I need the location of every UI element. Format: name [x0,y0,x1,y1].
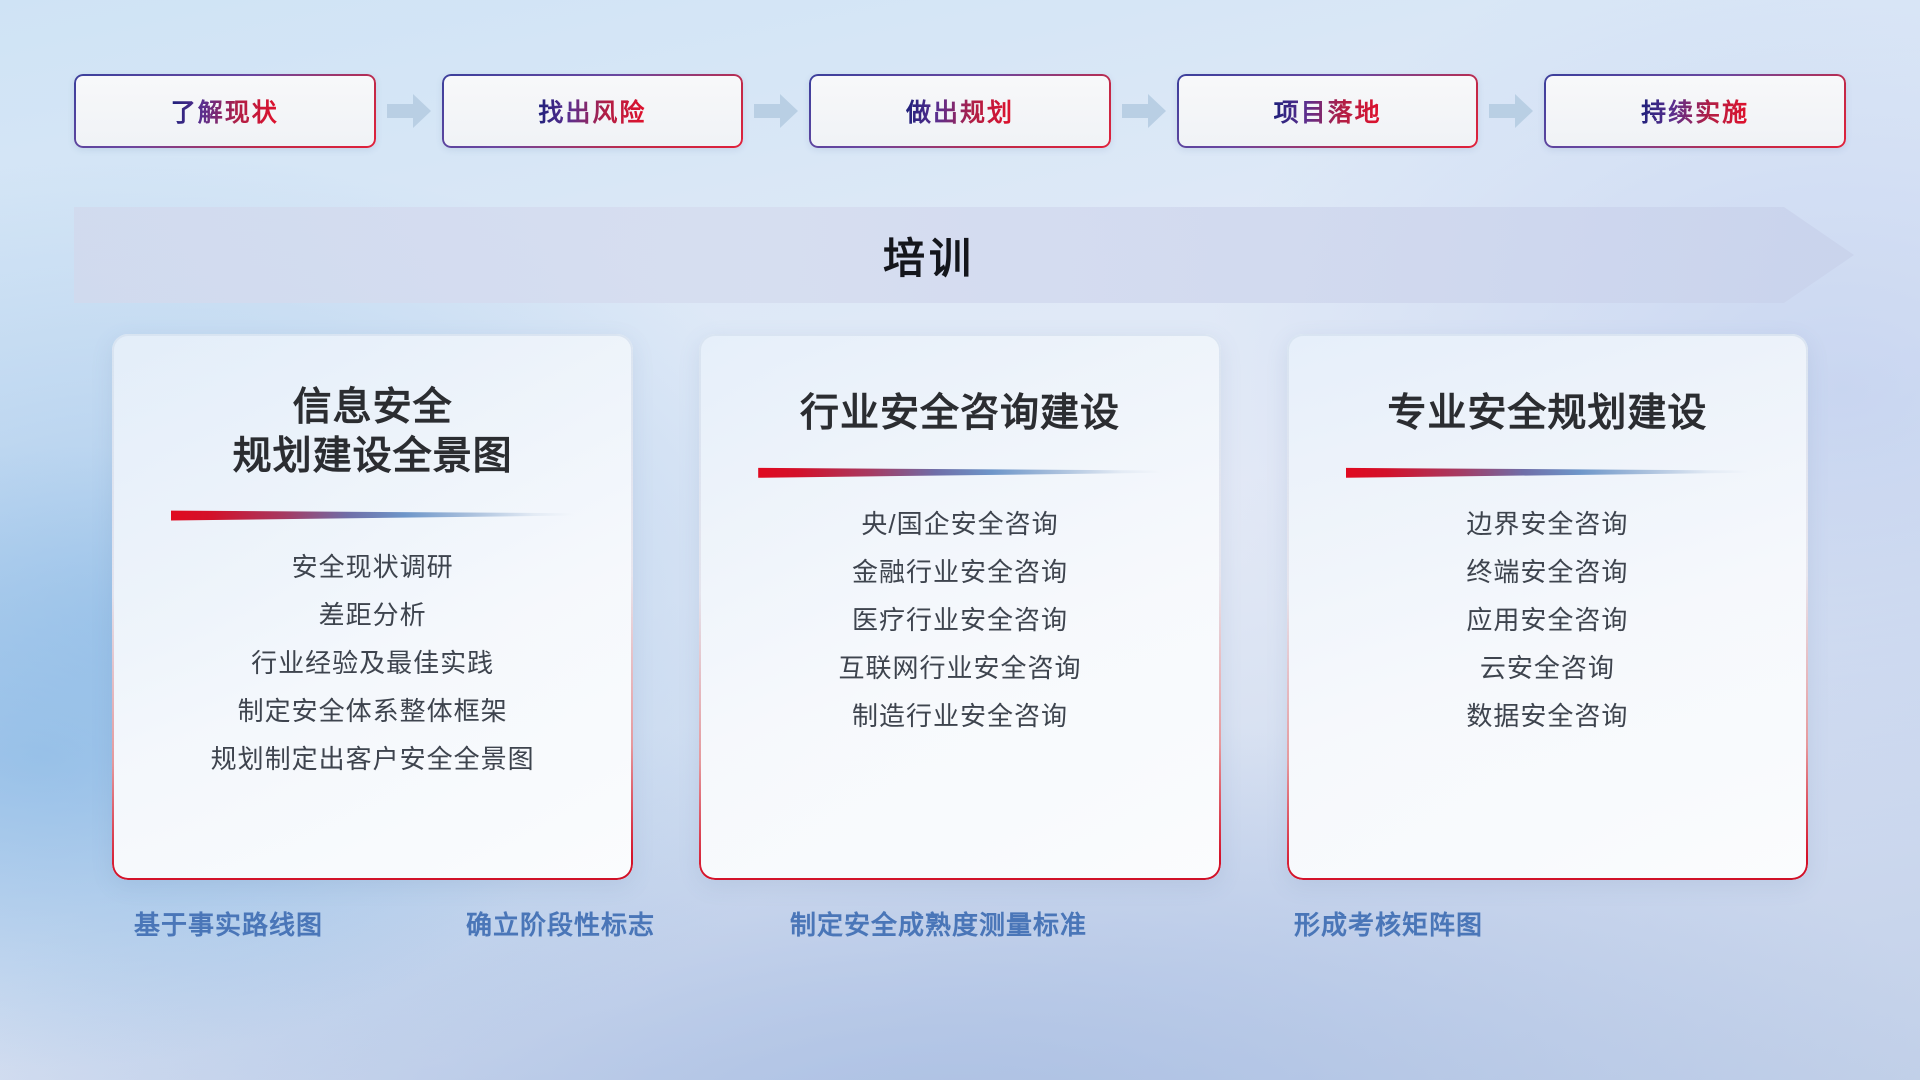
card-title: 专业安全规划建设 [1387,390,1707,439]
caption-roadmap: 基于事实路线图 [134,905,323,942]
step-item-3[interactable]: 项目落地 [1177,74,1479,148]
list-item: 行业经验及最佳实践 [138,639,607,687]
step-item-0[interactable]: 了解现状 [74,74,376,148]
card-item-list: 边界安全咨询 终端安全咨询 应用安全咨询 云安全咨询 数据安全咨询 [1313,500,1782,740]
list-item: 终端安全咨询 [1313,548,1782,596]
caption-maturity: 制定安全成熟度测量标准 [790,905,1087,942]
card-row: 信息安全 规划建设全景图 安全现状调研 差距分析 行业经验及最佳实践 制定安全体… [112,334,1808,880]
card-item-list: 央/国企安全咨询 金融行业安全咨询 医疗行业安全咨询 互联网行业安全咨询 制造行… [725,500,1194,740]
step-item-2[interactable]: 做出规划 [809,74,1111,148]
list-item: 数据安全咨询 [1313,692,1782,740]
slide-canvas: 了解现状 找出风险 做出规划 项目落地 [0,0,1920,1080]
caption-matrix: 形成考核矩阵图 [1294,905,1483,942]
step-item-1[interactable]: 找出风险 [442,74,744,148]
card-divider [758,465,1162,478]
step-arrow-icon-3 [1478,74,1544,148]
step-item-4[interactable]: 持续实施 [1544,74,1846,148]
step-arrow-icon-1 [743,74,809,148]
step-label: 持续实施 [1641,93,1749,129]
list-item: 边界安全咨询 [1313,500,1782,548]
card-divider [1346,465,1750,478]
list-item: 差距分析 [138,591,607,639]
list-item: 金融行业安全咨询 [725,548,1194,596]
step-arrow-icon-2 [1111,74,1177,148]
list-item: 云安全咨询 [1313,644,1782,692]
step-label: 做出规划 [906,93,1014,129]
card-item-list: 安全现状调研 差距分析 行业经验及最佳实践 制定安全体系整体框架 规划制定出客户… [138,543,607,783]
list-item: 制定安全体系整体框架 [138,687,607,735]
step-label: 项目落地 [1274,93,1382,129]
banner-title: 培训 [74,207,1854,303]
card-title: 行业安全咨询建设 [800,390,1120,439]
list-item: 规划制定出客户安全全景图 [138,735,607,783]
list-item: 医疗行业安全咨询 [725,596,1194,644]
step-arrow-icon-0 [376,74,442,148]
list-item: 安全现状调研 [138,543,607,591]
caption-milestone: 确立阶段性标志 [466,905,655,942]
process-step-row: 了解现状 找出风险 做出规划 项目落地 [74,74,1846,148]
card-title: 信息安全 规划建设全景图 [233,384,513,482]
training-banner: 培训 [74,207,1854,303]
card-divider [171,508,575,521]
list-item: 互联网行业安全咨询 [725,644,1194,692]
card-industry-consulting[interactable]: 行业安全咨询建设 央/国企安全咨询 金融行业安全咨询 医疗行业安全咨询 互联网行… [699,334,1220,880]
step-label: 了解现状 [171,93,279,129]
caption-row: 基于事实路线图 确立阶段性标志 制定安全成熟度测量标准 形成考核矩阵图 [0,905,1920,955]
list-item: 应用安全咨询 [1313,596,1782,644]
card-professional-planning[interactable]: 专业安全规划建设 边界安全咨询 终端安全咨询 应用安全咨询 云安全咨询 数据安全… [1287,334,1808,880]
card-panorama[interactable]: 信息安全 规划建设全景图 安全现状调研 差距分析 行业经验及最佳实践 制定安全体… [112,334,633,880]
list-item: 央/国企安全咨询 [725,500,1194,548]
step-label: 找出风险 [538,93,646,129]
list-item: 制造行业安全咨询 [725,692,1194,740]
